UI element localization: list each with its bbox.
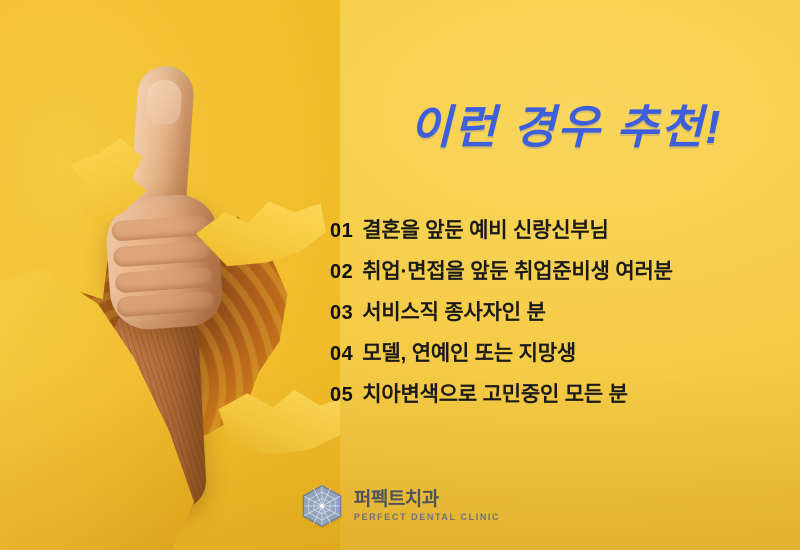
page-title: 이런 경우 추천! bbox=[334, 104, 798, 150]
logo-name-en: PERFECT DENTAL CLINIC bbox=[354, 513, 500, 522]
list-item-label: 치아변색으로 고민중인 모든 분 bbox=[362, 378, 627, 408]
content-column: 이런 경우 추천! 01 결혼을 앞둔 예비 신랑신부님 02 취업·면접을 앞… bbox=[326, 0, 800, 550]
hand-photo-region bbox=[0, 0, 340, 550]
fist bbox=[104, 192, 225, 331]
knuckle-4 bbox=[116, 291, 215, 318]
hexagon-emblem-icon bbox=[300, 484, 344, 528]
list-item-label: 취업·면접을 앞둔 취업준비생 여러분 bbox=[362, 255, 673, 285]
list-item: 02 취업·면접을 앞둔 취업준비생 여러분 bbox=[330, 255, 800, 285]
list-item: 01 결혼을 앞둔 예비 신랑신부님 bbox=[330, 214, 800, 244]
knuckle-3 bbox=[115, 267, 214, 294]
promo-banner: 이런 경우 추천! 01 결혼을 앞둔 예비 신랑신부님 02 취업·면접을 앞… bbox=[0, 0, 800, 550]
list-item: 03 서비스직 종사자인 분 bbox=[330, 296, 800, 326]
list-item-label: 모델, 연예인 또는 지망생 bbox=[362, 337, 576, 367]
list-item-number: 04 bbox=[330, 343, 353, 366]
list-item-number: 02 bbox=[330, 261, 353, 284]
clinic-logo: 퍼펙트치과 PERFECT DENTAL CLINIC bbox=[0, 484, 800, 528]
list-item-number: 03 bbox=[330, 302, 353, 325]
logo-text-block: 퍼펙트치과 PERFECT DENTAL CLINIC bbox=[354, 490, 500, 522]
knuckle-2 bbox=[113, 241, 212, 268]
list-item-label: 결혼을 앞둔 예비 신랑신부님 bbox=[362, 214, 608, 244]
knuckle-1 bbox=[111, 215, 210, 242]
thumbnail bbox=[146, 79, 183, 125]
recommendation-list: 01 결혼을 앞둔 예비 신랑신부님 02 취업·면접을 앞둔 취업준비생 여러… bbox=[330, 214, 800, 419]
list-item-number: 05 bbox=[330, 384, 353, 407]
list-item-label: 서비스직 종사자인 분 bbox=[362, 296, 545, 326]
logo-name-ko: 퍼펙트치과 bbox=[354, 490, 500, 509]
list-item-number: 01 bbox=[330, 220, 353, 243]
list-item: 05 치아변색으로 고민중인 모든 분 bbox=[330, 378, 800, 408]
list-item: 04 모델, 연예인 또는 지망생 bbox=[330, 337, 800, 367]
